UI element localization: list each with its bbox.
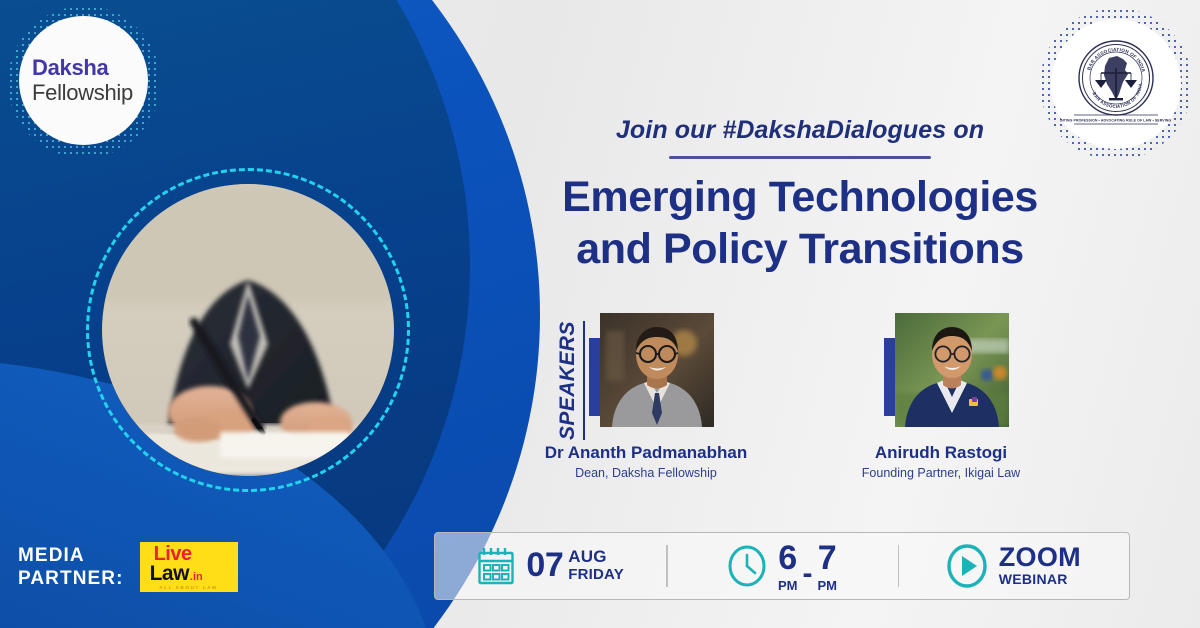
event-time-end-meridiem: PM: [817, 579, 837, 592]
daksha-fellowship-logo: Daksha Fellowship: [19, 16, 148, 145]
media-partner-label-line2: PARTNER:: [18, 567, 124, 590]
livelaw-domain: .in: [190, 572, 203, 582]
media-partner-label-line1: MEDIA: [18, 544, 124, 567]
livelaw-logo: Live Law .in ALL ABOUT LAW: [140, 542, 238, 592]
event-time-start-meridiem: PM: [778, 579, 798, 592]
headline-title-line2: and Policy Transitions: [430, 223, 1170, 275]
event-day: 07: [526, 548, 563, 582]
person-signing-document-photo: [102, 184, 394, 476]
event-platform-text: ZOOM WEBINAR: [999, 544, 1081, 588]
media-partner-label: MEDIA PARTNER:: [18, 544, 124, 590]
calendar-icon: [477, 546, 515, 586]
event-time-text: 6 PM - 7 PM: [778, 541, 837, 592]
event-time-separator: -: [802, 559, 812, 589]
play-circle-icon: [946, 543, 988, 589]
headline-divider: [669, 156, 931, 159]
platform-type: WEBINAR: [999, 571, 1081, 588]
event-date-text: 07 AUG FRIDAY: [526, 548, 623, 583]
event-weekday: FRIDAY: [568, 566, 624, 583]
livelaw-word-live: Live: [154, 545, 192, 564]
clock-icon: [727, 544, 767, 588]
event-date-cell: 07 AUG FRIDAY: [435, 533, 666, 599]
media-partner-block: MEDIA PARTNER: Live Law .in ALL ABOUT LA…: [18, 542, 238, 592]
livelaw-word-law: Law: [150, 564, 189, 584]
speaker-role-1: Dean, Daksha Fellowship: [541, 466, 751, 480]
logo-line-daksha: Daksha: [32, 56, 108, 81]
speaker-photo-anirudh-rastogi: [895, 313, 1009, 427]
speaker-name-2: Anirudh Rastogi: [836, 443, 1046, 463]
headline-block: Join our #DakshaDialogues on Emerging Te…: [430, 116, 1170, 276]
headline-kicker: Join our #DakshaDialogues on: [430, 116, 1170, 145]
event-info-bar: 07 AUG FRIDAY 6 PM -: [434, 532, 1130, 600]
speakers-label: SPEAKERS: [556, 312, 590, 440]
speaker-role-2: Founding Partner, Ikigai Law: [836, 466, 1046, 480]
speaker-name-1: Dr Ananth Padmanabhan: [541, 443, 751, 463]
speaker-photo-ananth-padmanabhan: [600, 313, 714, 427]
event-month: AUG: [568, 548, 624, 566]
headline-title-line1: Emerging Technologies: [430, 171, 1170, 223]
speakers-label-text: SPEAKERS: [556, 321, 585, 440]
event-time-end: 7: [818, 541, 837, 575]
event-platform-cell: ZOOM WEBINAR: [898, 533, 1129, 599]
logo-line-fellowship: Fellowship: [32, 81, 133, 106]
event-time-start: 6: [778, 541, 797, 575]
livelaw-tagline: ALL ABOUT LAW: [159, 585, 218, 590]
platform-name: ZOOM: [999, 544, 1081, 572]
webinar-promo-poster: Daksha Fellowship: [0, 0, 1200, 628]
event-time-cell: 6 PM - 7 PM: [666, 533, 897, 599]
